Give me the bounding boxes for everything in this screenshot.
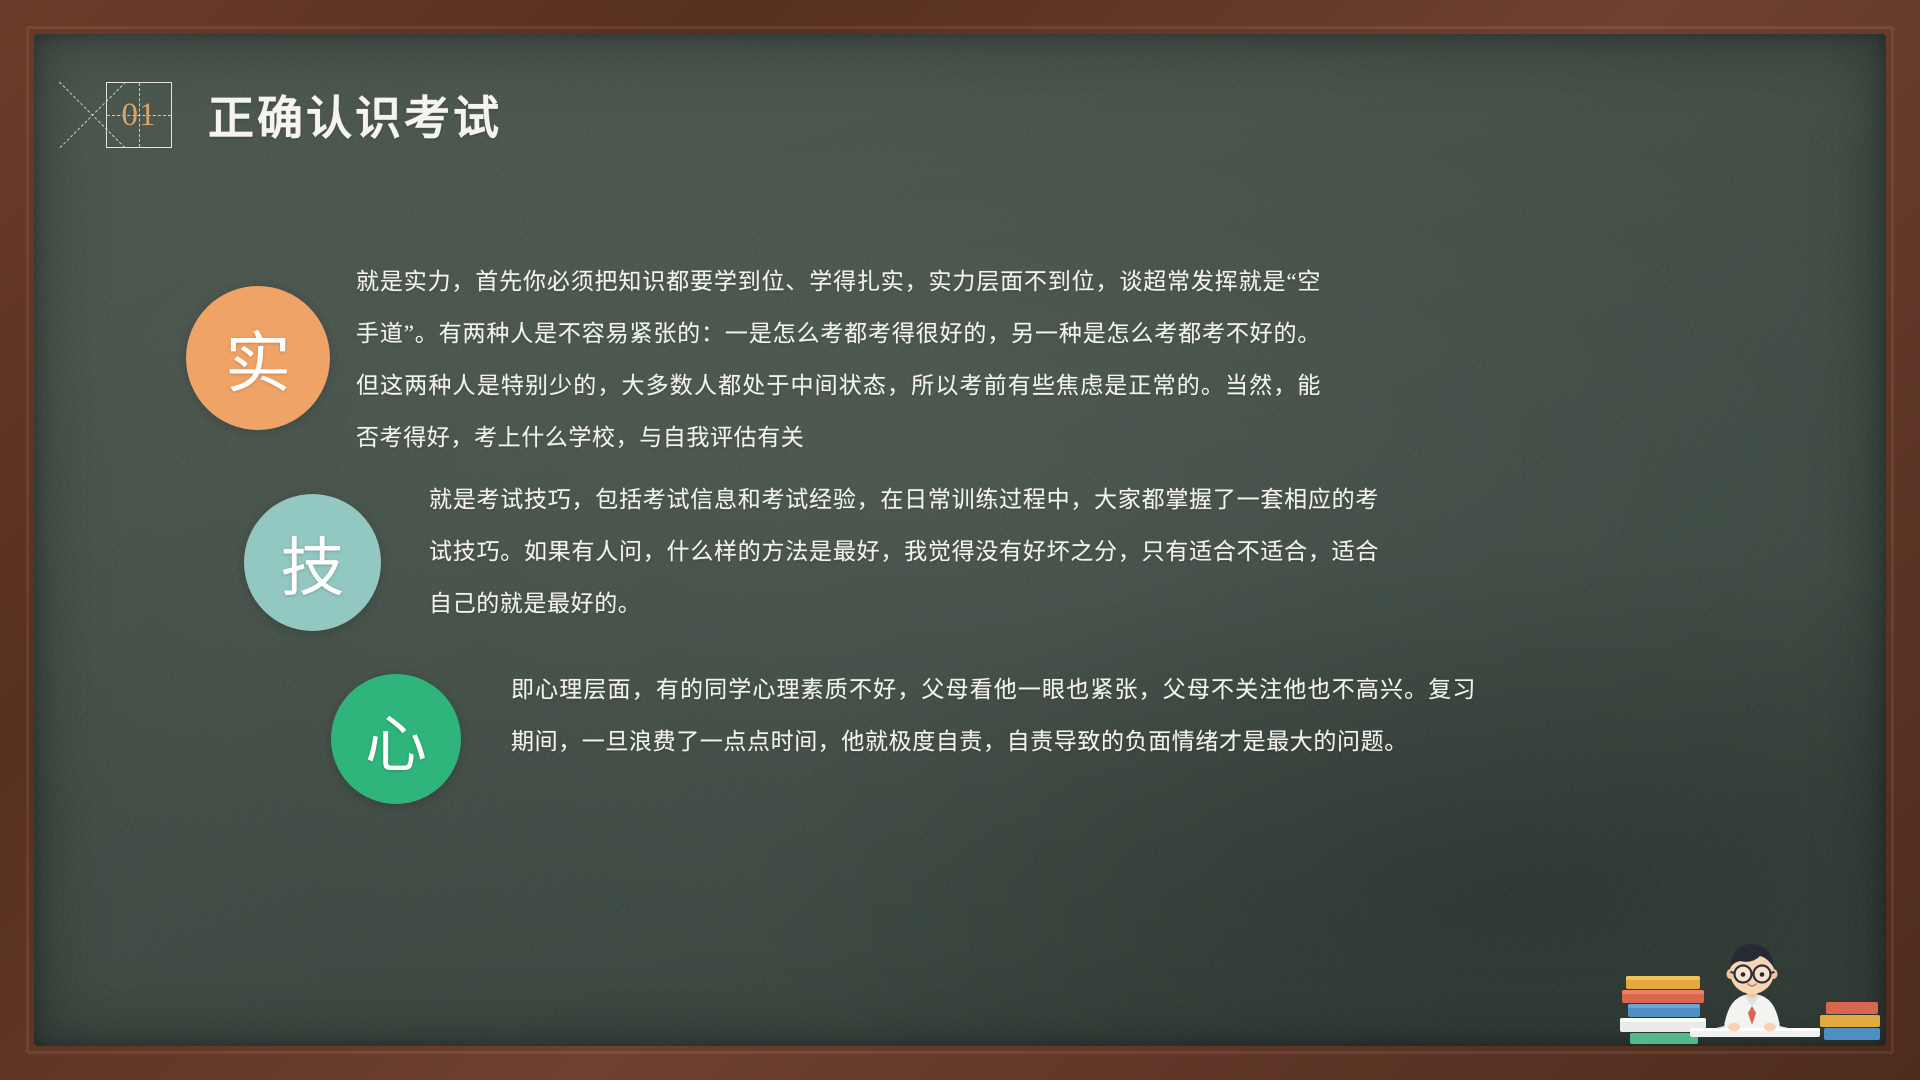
boy-figure — [1724, 944, 1780, 1032]
slide-header: 01 正确认识考试 — [106, 82, 502, 148]
section-number-grid-box: 01 — [106, 82, 172, 148]
body-text-ji: 就是考试技巧，包括考试信息和考试经验，在日常训练过程中，大家都掌握了一套相应的考… — [429, 474, 1379, 630]
content-block-ji: 技 就是考试技巧，包括考试信息和考试经验，在日常训练过程中，大家都掌握了一套相应… — [244, 474, 1379, 631]
key-char-bubble-xin: 心 — [331, 674, 461, 804]
page-title: 正确认识考试 — [208, 82, 502, 148]
body-text-shi: 就是实力，首先你必须把知识都要学到位、学得扎实，实力层面不到位，谈超常发挥就是“… — [356, 256, 1321, 464]
book-stack-right — [1820, 1002, 1880, 1040]
student-reading-books-illustration — [1620, 906, 1880, 1046]
body-text-xin: 即心理层面，有的同学心理素质不好，父母看他一眼也紧张，父母不关注他也不高兴。复习… — [511, 664, 1476, 768]
content-block-shi: 实 就是实力，首先你必须把知识都要学到位、学得扎实，实力层面不到位，谈超常发挥就… — [186, 256, 1321, 464]
content-block-xin: 心 即心理层面，有的同学心理素质不好，父母看他一眼也紧张，父母不关注他也不高兴。… — [331, 664, 1476, 804]
section-number: 01 — [107, 83, 171, 147]
desk — [1690, 1028, 1820, 1037]
key-char-bubble-ji: 技 — [244, 494, 381, 631]
chalkboard: 01 正确认识考试 实 就是实力，首先你必须把知识都要学到位、学得扎实，实力层面… — [34, 34, 1886, 1046]
presentation-slide: 01 正确认识考试 实 就是实力，首先你必须把知识都要学到位、学得扎实，实力层面… — [0, 0, 1920, 1080]
key-char-bubble-shi: 实 — [186, 286, 330, 430]
